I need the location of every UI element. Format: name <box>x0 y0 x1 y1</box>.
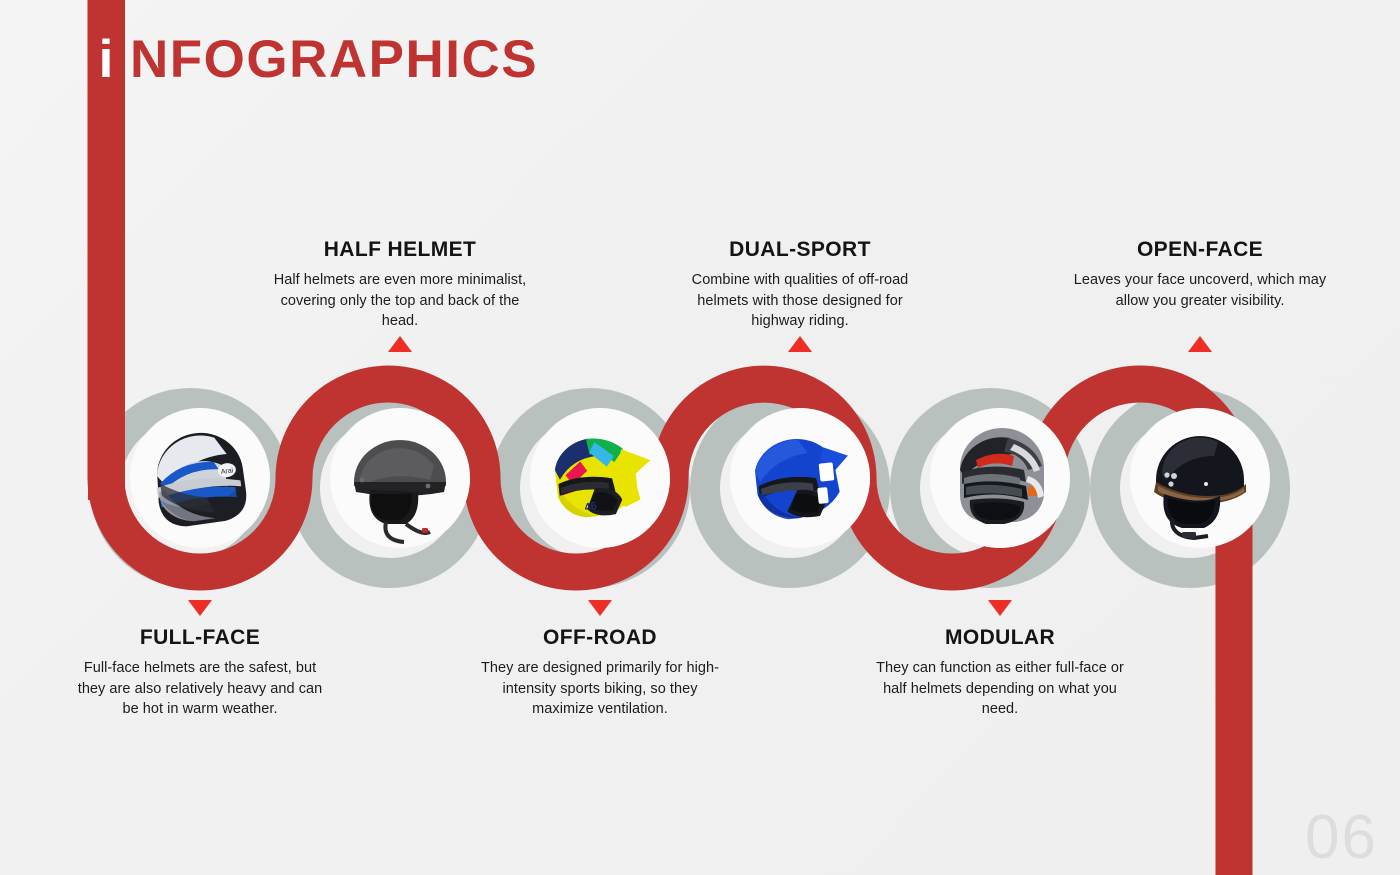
label-desc-full-face: Full-face helmets are the safest, but th… <box>70 658 330 720</box>
label-desc-open-face: Leaves your face uncoverd, which may all… <box>1070 270 1330 311</box>
node-off-road[interactable]: 46 <box>530 408 670 548</box>
label-title-off-road: OFF-ROAD <box>470 626 730 649</box>
label-full-face: FULL-FACE Full-face helmets are the safe… <box>70 626 330 720</box>
svg-text:46: 46 <box>584 500 598 514</box>
arrow-down-modular <box>988 600 1012 616</box>
arrow-up-half-helmet <box>388 336 412 352</box>
full-face-helmet-icon: Arai <box>130 408 270 548</box>
node-dual-sport[interactable] <box>730 408 870 548</box>
node-modular[interactable] <box>930 408 1070 548</box>
label-off-road: OFF-ROAD They are designed primarily for… <box>470 626 730 720</box>
open-face-helmet-icon <box>1130 408 1270 548</box>
label-title-open-face: OPEN-FACE <box>1070 238 1330 261</box>
label-desc-modular: They can function as either full-face or… <box>870 658 1130 720</box>
arrow-up-dual-sport <box>788 336 812 352</box>
label-desc-off-road: They are designed primarily for high-int… <box>470 658 730 720</box>
label-desc-dual-sport: Combine with qualities of off-road helme… <box>670 270 930 332</box>
label-half-helmet: HALF HELMET Half helmets are even more m… <box>270 238 530 332</box>
label-desc-half-helmet: Half helmets are even more minimalist, c… <box>270 270 530 332</box>
page-number: 06 <box>1305 807 1378 869</box>
arrow-up-open-face <box>1188 336 1212 352</box>
node-full-face[interactable]: Arai <box>130 408 270 548</box>
node-half-helmet[interactable] <box>330 408 470 548</box>
infographic-slide: i NFOGRAPHICS Arai <box>0 0 1400 875</box>
dual-sport-helmet-icon <box>730 408 870 548</box>
label-modular: MODULAR They can function as either full… <box>870 626 1130 720</box>
label-title-modular: MODULAR <box>870 626 1130 649</box>
label-title-full-face: FULL-FACE <box>70 626 330 649</box>
arrow-down-off-road <box>588 600 612 616</box>
arrow-down-full-face <box>188 600 212 616</box>
label-dual-sport: DUAL-SPORT Combine with qualities of off… <box>670 238 930 332</box>
node-open-face[interactable] <box>1130 408 1270 548</box>
off-road-helmet-icon: 46 <box>530 408 670 548</box>
half-helmet-icon <box>330 408 470 548</box>
label-title-dual-sport: DUAL-SPORT <box>670 238 930 261</box>
label-open-face: OPEN-FACE Leaves your face uncoverd, whi… <box>1070 238 1330 311</box>
label-title-half-helmet: HALF HELMET <box>270 238 530 261</box>
modular-helmet-icon <box>930 408 1070 548</box>
title-initial: i <box>96 33 116 86</box>
title-text: NFOGRAPHICS <box>130 33 538 86</box>
